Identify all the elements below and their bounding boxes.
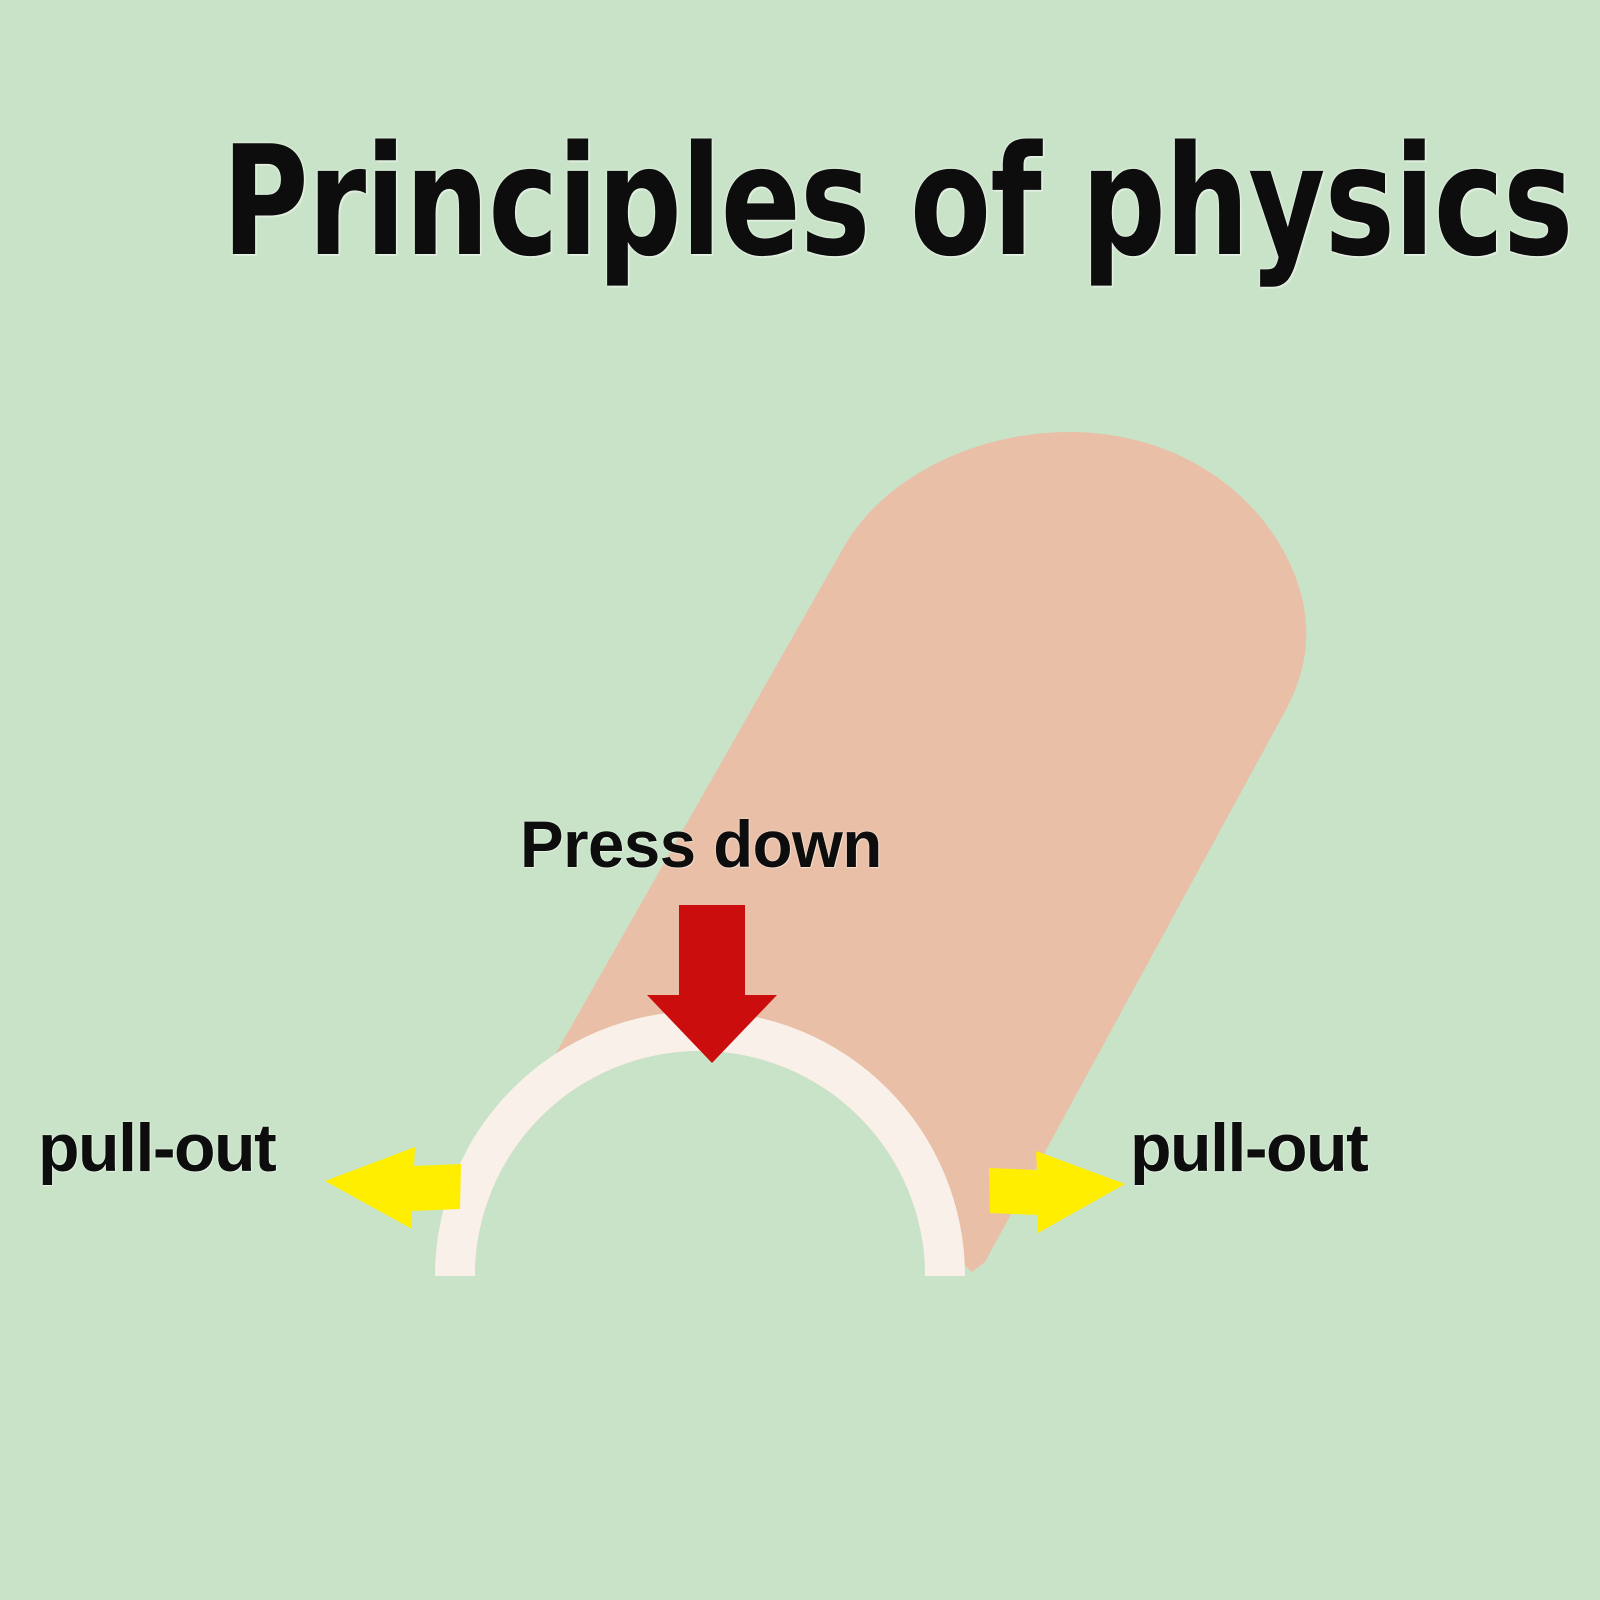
pull-out-right-label: pull-out [1130, 1114, 1367, 1182]
figure-canvas: Principles of physics Press down pull-ou… [0, 0, 1600, 1600]
press-down-label: Press down [520, 811, 882, 877]
pull-out-left-label: pull-out [38, 1114, 275, 1182]
page-title: Principles of physics [222, 126, 1573, 278]
